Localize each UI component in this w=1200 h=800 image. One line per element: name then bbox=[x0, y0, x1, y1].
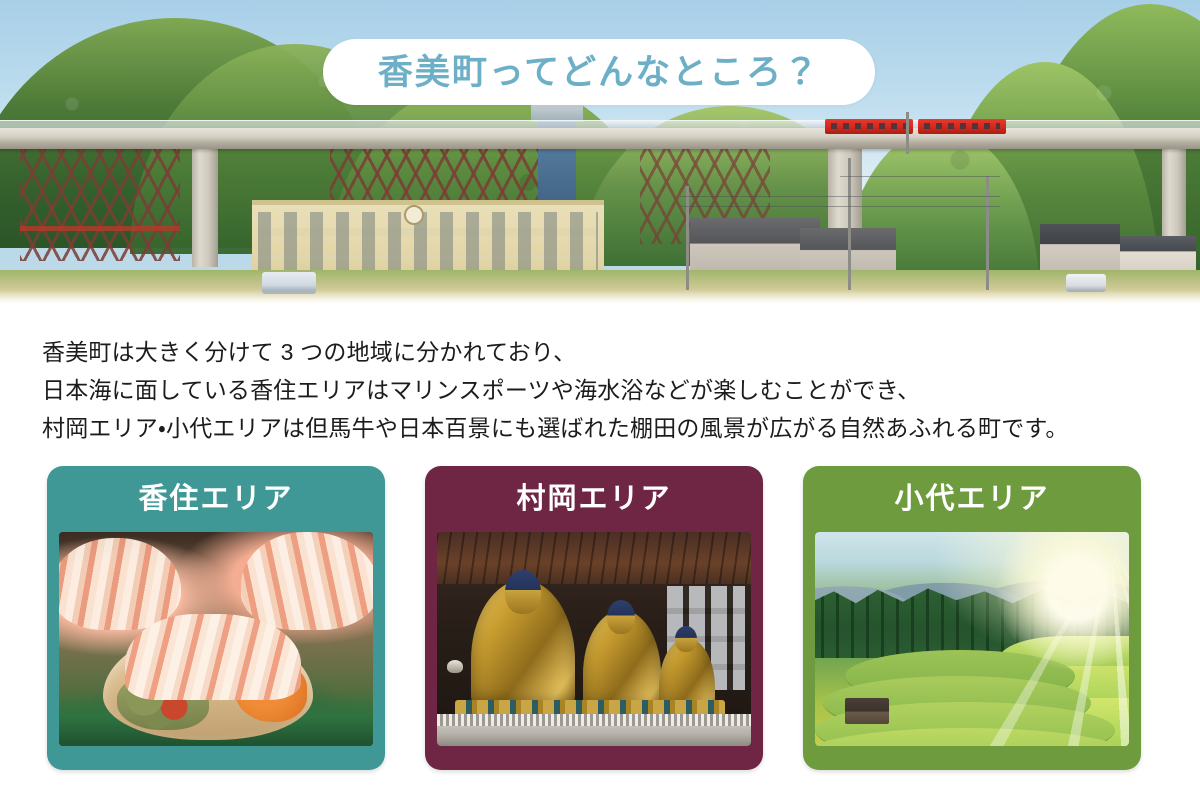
page-title: 香美町ってどんなところ？ bbox=[378, 55, 820, 90]
buddha-hall-photo bbox=[437, 532, 751, 746]
crab-dish-photo bbox=[59, 532, 373, 746]
buddha-head bbox=[505, 570, 541, 614]
intro-line-3: 村岡エリア・小代エリアは但馬牛や日本百景にも選ばれた棚田の風景が広がる自然あふれ… bbox=[42, 409, 1172, 447]
train-windows bbox=[831, 123, 907, 129]
page-title-pill: 香美町ってどんなところ？ bbox=[323, 39, 875, 105]
temple-ceiling bbox=[437, 532, 751, 584]
power-wire bbox=[840, 176, 1000, 177]
area-card-list: 香住エリア 村岡エリア bbox=[47, 466, 1141, 770]
power-wire bbox=[680, 196, 1000, 197]
crab-leg-meat bbox=[125, 614, 301, 700]
altar-railing bbox=[437, 714, 751, 726]
buddha-head bbox=[607, 600, 635, 634]
terraced-rice-field-photo bbox=[815, 532, 1129, 746]
buddha-head bbox=[675, 626, 697, 652]
hero-bottom-fade bbox=[0, 290, 1200, 308]
area-card-title-muraoka: 村岡エリア bbox=[516, 466, 671, 532]
field-hut bbox=[845, 698, 889, 724]
train-windows bbox=[924, 123, 1000, 129]
crab-meat-back-left bbox=[59, 538, 181, 630]
viaduct-deck bbox=[0, 128, 1200, 149]
area-photo-ojiro bbox=[815, 532, 1129, 746]
school-clock bbox=[404, 205, 424, 225]
area-card-title-ojiro: 小代エリア bbox=[894, 466, 1049, 532]
intro-line-1: 香美町は大きく分けて 3 つの地域に分かれており、 bbox=[42, 333, 1172, 371]
utility-pole bbox=[686, 186, 689, 290]
utility-pole bbox=[848, 158, 851, 290]
hanging-lamp-icon bbox=[447, 660, 463, 673]
area-card-ojiro[interactable]: 小代エリア bbox=[803, 466, 1141, 770]
area-card-muraoka[interactable]: 村岡エリア bbox=[425, 466, 763, 770]
area-card-title-kasumi: 香住エリア bbox=[138, 466, 293, 532]
power-wire bbox=[680, 206, 1000, 207]
area-photo-muraoka bbox=[437, 532, 751, 746]
crab-meat-back-right bbox=[241, 532, 373, 630]
intro-line-2: 日本海に面している香住エリアはマリンスポーツや海水浴などが楽しむことができ、 bbox=[42, 371, 1172, 409]
area-card-kasumi[interactable]: 香住エリア bbox=[47, 466, 385, 770]
antenna-pole bbox=[906, 112, 909, 154]
intro-paragraph: 香美町は大きく分けて 3 つの地域に分かれており、 日本海に面している香住エリア… bbox=[42, 333, 1172, 447]
area-photo-kasumi bbox=[59, 532, 373, 746]
utility-pole bbox=[986, 176, 989, 290]
